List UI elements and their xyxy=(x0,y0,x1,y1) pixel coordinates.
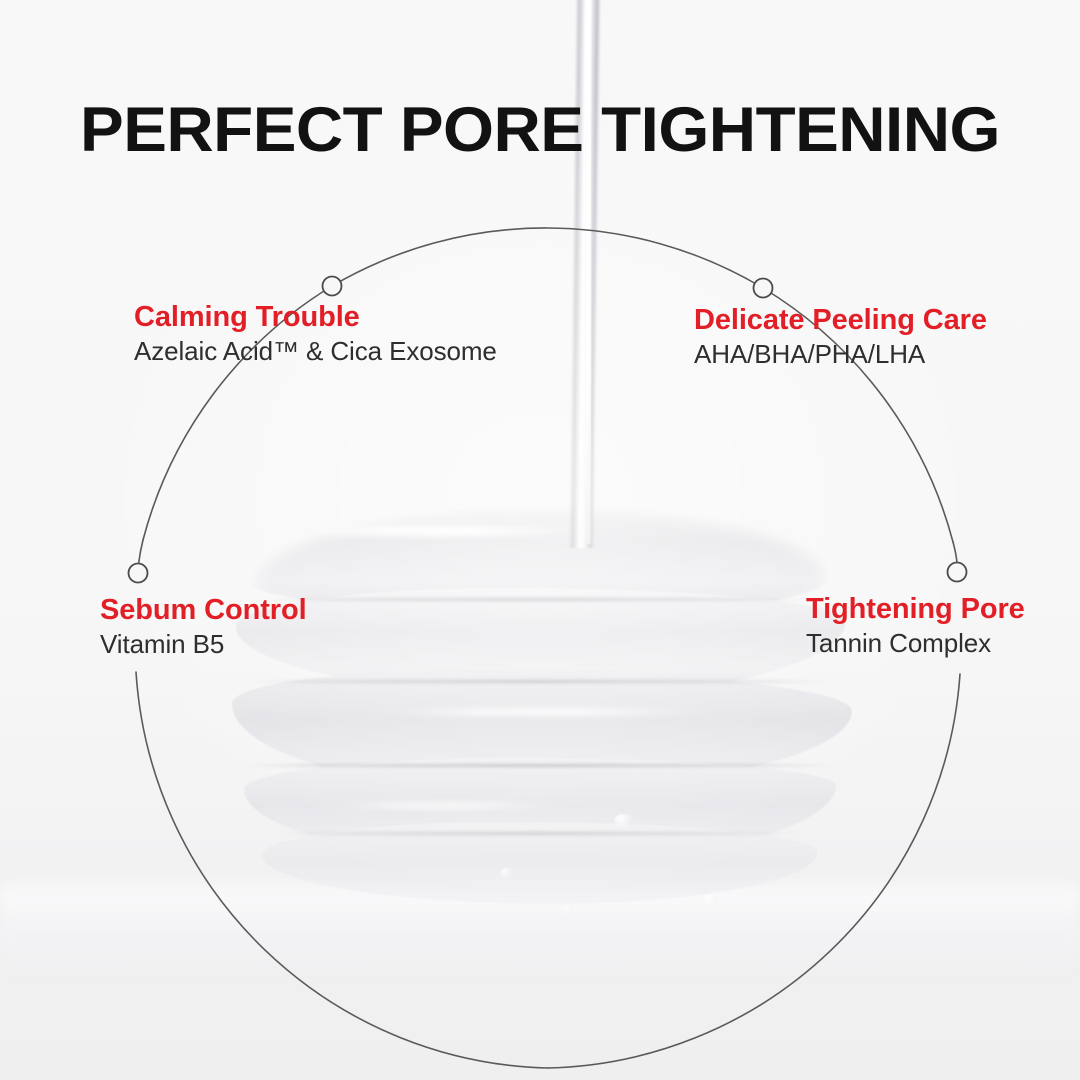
feature-calming-trouble: Calming Trouble Azelaic Acid™ & Cica Exo… xyxy=(134,302,497,366)
ring-marker-tightening-pore[interactable] xyxy=(948,563,967,582)
feature-title: Calming Trouble xyxy=(134,302,497,333)
ring-marker-delicate-peeling-care[interactable] xyxy=(754,279,773,298)
feature-subtitle: Vitamin B5 xyxy=(100,629,307,660)
circle-arc-right-lower xyxy=(548,674,960,1068)
stem-sebum-control xyxy=(139,540,143,564)
feature-delicate-peeling-care: Delicate Peeling Care AHA/BHA/PHA/LHA xyxy=(694,305,987,369)
feature-sebum-control: Sebum Control Vitamin B5 xyxy=(100,595,307,659)
stem-tightening-pore xyxy=(953,542,957,563)
feature-title: Tightening Pore xyxy=(806,594,1025,625)
feature-title: Delicate Peeling Care xyxy=(694,305,987,336)
page-title: PERFECT PORE TIGHTENING xyxy=(0,94,1080,166)
feature-subtitle: Tannin Complex xyxy=(806,628,1025,659)
feature-subtitle: Azelaic Acid™ & Cica Exosome xyxy=(134,336,497,367)
ring-marker-calming-trouble[interactable] xyxy=(323,277,342,296)
infographic-canvas: PERFECT PORE TIGHTENING Calming Trouble … xyxy=(0,0,1080,1080)
feature-subtitle: AHA/BHA/PHA/LHA xyxy=(694,339,987,370)
ring-marker-sebum-control[interactable] xyxy=(129,564,148,583)
feature-title: Sebum Control xyxy=(100,595,307,626)
circle-arc-left-lower xyxy=(136,672,548,1068)
circle-arc-top xyxy=(332,228,763,288)
feature-tightening-pore: Tightening Pore Tannin Complex xyxy=(806,594,1025,658)
